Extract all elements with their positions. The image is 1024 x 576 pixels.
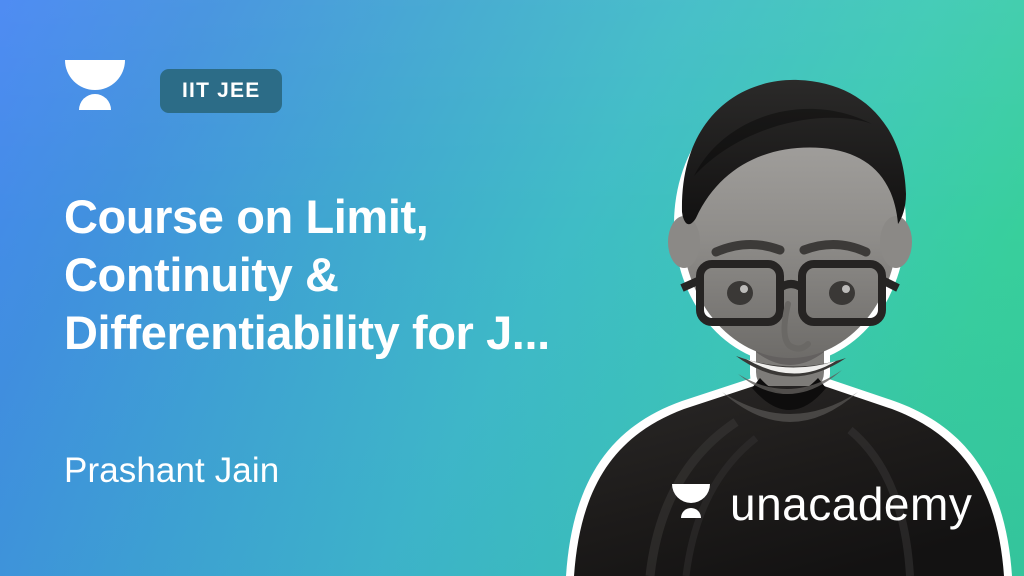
unacademy-bowl-logo-icon xyxy=(64,58,126,128)
course-title-line-3: Differentiability for J... xyxy=(64,304,664,362)
category-badge-label: IIT JEE xyxy=(182,79,260,103)
course-thumbnail-card: IIT JEE Course on Limit, Continuity & Di… xyxy=(0,0,1024,576)
course-title-line-1: Course on Limit, xyxy=(64,188,664,246)
category-badge[interactable]: IIT JEE xyxy=(160,69,282,113)
educator-name: Prashant Jain xyxy=(64,451,279,490)
svg-text:unacademy: unacademy xyxy=(730,478,972,530)
course-title: Course on Limit, Continuity & Differenti… xyxy=(64,188,664,362)
course-title-line-2: Continuity & xyxy=(64,246,664,304)
educator-name-block: Prashant Jain xyxy=(64,451,279,491)
